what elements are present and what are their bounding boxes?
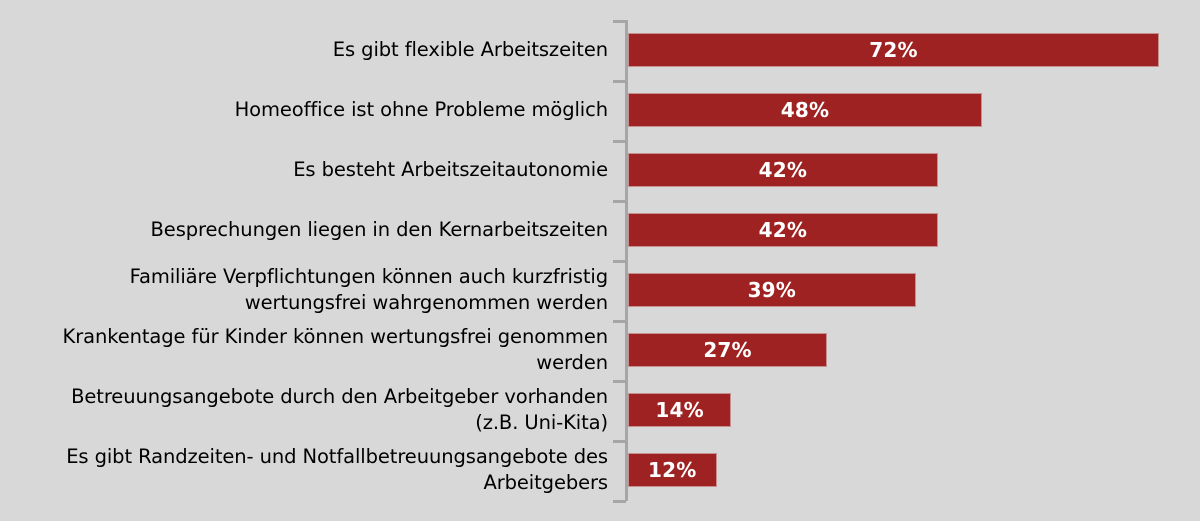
- category-label: Familiäre Verpflichtungen können auch ku…: [0, 260, 608, 320]
- bar[interactable]: 42%: [628, 153, 938, 187]
- bar-container: 72%: [628, 33, 1159, 67]
- category-label-line: Betreuungsangebote durch den Arbeitgeber…: [71, 384, 608, 410]
- chart-row: Es besteht Arbeitszeitautonomie42%: [0, 140, 1200, 200]
- bar-value-label: 48%: [781, 100, 829, 120]
- axis-tick: [613, 440, 626, 443]
- bar[interactable]: 39%: [628, 273, 916, 307]
- bar-value-label: 72%: [869, 40, 917, 60]
- category-label: Homeoffice ist ohne Probleme möglich: [0, 80, 608, 140]
- bar-container: 14%: [628, 393, 731, 427]
- axis-tick: [613, 380, 626, 383]
- category-label-line: Arbeitgebers: [483, 470, 608, 496]
- chart-row: Es gibt Randzeiten- und Notfallbetreuung…: [0, 440, 1200, 500]
- axis-tick: [613, 20, 626, 23]
- axis-tick: [613, 200, 626, 203]
- axis-tick: [613, 260, 626, 263]
- bar-value-label: 42%: [759, 160, 807, 180]
- chart-row: Krankentage für Kinder können wertungsfr…: [0, 320, 1200, 380]
- category-label: Betreuungsangebote durch den Arbeitgeber…: [0, 380, 608, 440]
- category-label-line: (z.B. Uni-Kita): [475, 410, 608, 436]
- chart-row: Homeoffice ist ohne Probleme möglich48%: [0, 80, 1200, 140]
- chart-row: Es gibt flexible Arbeitszeiten72%: [0, 20, 1200, 80]
- axis-tick: [613, 500, 626, 503]
- bar[interactable]: 27%: [628, 333, 827, 367]
- chart-row: Besprechungen liegen in den Kernarbeitsz…: [0, 200, 1200, 260]
- bar-container: 42%: [628, 213, 938, 247]
- bar-container: 12%: [628, 453, 717, 487]
- bar-value-label: 14%: [655, 400, 703, 420]
- bar[interactable]: 72%: [628, 33, 1159, 67]
- category-label-line: wertungsfrei wahrgenommen werden: [245, 290, 608, 316]
- bar-value-label: 39%: [748, 280, 796, 300]
- axis-tick: [613, 320, 626, 323]
- bar[interactable]: 14%: [628, 393, 731, 427]
- category-label-line: Besprechungen liegen in den Kernarbeitsz…: [151, 217, 608, 243]
- category-label-line: Familiäre Verpflichtungen können auch ku…: [130, 264, 608, 290]
- category-label: Besprechungen liegen in den Kernarbeitsz…: [0, 200, 608, 260]
- category-label: Es gibt Randzeiten- und Notfallbetreuung…: [0, 440, 608, 500]
- horizontal-bar-chart: Es gibt flexible Arbeitszeiten72%Homeoff…: [0, 0, 1200, 521]
- category-label: Es besteht Arbeitszeitautonomie: [0, 140, 608, 200]
- bar-container: 39%: [628, 273, 916, 307]
- bar-container: 48%: [628, 93, 982, 127]
- chart-row: Betreuungsangebote durch den Arbeitgeber…: [0, 380, 1200, 440]
- category-label: Krankentage für Kinder können wertungsfr…: [0, 320, 608, 380]
- category-label-line: Krankentage für Kinder können wertungsfr…: [63, 324, 608, 350]
- category-label-line: Homeoffice ist ohne Probleme möglich: [235, 97, 608, 123]
- bar-container: 42%: [628, 153, 938, 187]
- bar-value-label: 12%: [648, 460, 696, 480]
- category-label-line: Es besteht Arbeitszeitautonomie: [293, 157, 608, 183]
- bar[interactable]: 42%: [628, 213, 938, 247]
- category-label-line: Es gibt flexible Arbeitszeiten: [333, 37, 608, 63]
- axis-tick: [613, 140, 626, 143]
- category-label-line: werden: [536, 350, 608, 376]
- bar-container: 27%: [628, 333, 827, 367]
- category-label-line: Es gibt Randzeiten- und Notfallbetreuung…: [66, 444, 608, 470]
- chart-row: Familiäre Verpflichtungen können auch ku…: [0, 260, 1200, 320]
- bar[interactable]: 48%: [628, 93, 982, 127]
- bar-value-label: 27%: [703, 340, 751, 360]
- bar[interactable]: 12%: [628, 453, 717, 487]
- category-label: Es gibt flexible Arbeitszeiten: [0, 20, 608, 80]
- bar-value-label: 42%: [759, 220, 807, 240]
- axis-tick: [613, 80, 626, 83]
